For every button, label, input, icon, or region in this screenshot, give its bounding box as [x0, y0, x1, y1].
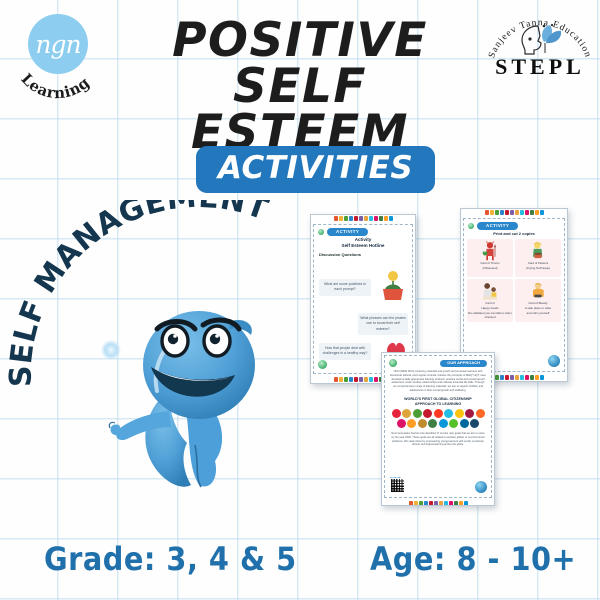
sdg-goal-dot [428, 419, 437, 428]
sdg-goal-dot [413, 409, 422, 418]
sdg-goal-icons [385, 407, 491, 431]
card-item: Card of Happy hands Re-validated you can… [467, 279, 513, 322]
worksheet-top-border [311, 215, 415, 222]
worksheet-3-globe-icon [475, 481, 487, 493]
card-caption-line3: Re-validated you can talk to when stress… [468, 312, 512, 320]
parent-child-icon [481, 281, 499, 301]
leaf-icon [389, 359, 397, 367]
age-label: Age: 8 - 10+ [370, 540, 576, 578]
page-title: POSITIVE SELF ESTEEM [100, 18, 500, 156]
stepl-logo: Sanjeev Tanna Education STEPL [488, 6, 592, 98]
worksheet-2-body: ACTIVITY Print and cut 2 copies Card of … [463, 218, 565, 372]
leaf-icon [318, 229, 324, 235]
blue-genie-mascot [95, 295, 295, 495]
worksheet-1-question-3: How that people deal with challenges in … [319, 343, 371, 360]
card-caption-line3: and calm yourself [527, 312, 550, 316]
sdg-goal-dot [434, 409, 443, 418]
leaf-icon [468, 223, 474, 229]
qr-code-icon[interactable] [390, 478, 405, 493]
sdg-goal-dot [439, 419, 448, 428]
activities-badge-label: ACTIVITIES [218, 153, 413, 184]
title-line-1: POSITIVE SELF [172, 13, 428, 114]
plant-pot-illustration [380, 269, 406, 303]
worksheet-2-header: ACTIVITY [464, 219, 564, 231]
worksheet-1-question-1: What are some positives in each prompt? [319, 279, 371, 296]
worksheet-2-card-grid: Card of Thorns (Obsessed) Card of Flower… [464, 236, 564, 325]
card-item: Card of Beauty A safe place to relax and… [515, 279, 561, 322]
sdg-goal-dot [455, 409, 464, 418]
sdg-goal-dot [470, 419, 479, 428]
stepl-wordmark: STEPL [488, 54, 592, 80]
activities-badge: ACTIVITIES [196, 146, 435, 193]
worksheet-2-badge: ACTIVITY [477, 222, 518, 230]
sdg-goal-dot [397, 419, 406, 428]
worksheet-3-bottom-border [382, 500, 494, 506]
worksheet-1-badge: ACTIVITY [327, 228, 368, 236]
gardener-character-icon [529, 241, 547, 261]
sdg-goal-dot [444, 409, 453, 418]
stepl-head-leaf-icon [514, 22, 566, 56]
worksheet-1-leaf-icon [318, 360, 327, 369]
worksheet-2-globe-icon [548, 355, 560, 367]
sdg-goal-dot [392, 409, 401, 418]
relaxing-person-icon [529, 281, 547, 301]
worksheet-2-top-border [461, 209, 567, 216]
sdg-goal-dot [402, 409, 411, 418]
sdg-goal-dot [423, 409, 432, 418]
ngn-learning-arc-text: Learning [17, 70, 93, 102]
sdg-goal-dot [407, 419, 416, 428]
worksheet-1-title: Activity Self Esteem Hotline [314, 237, 412, 249]
worksheet-3-header: OUR APPROACH [385, 356, 491, 367]
sdg-goal-dot [449, 419, 458, 428]
worksheet-1-section-label: Discussion Questions [314, 249, 412, 257]
ngn-learning-logo: ngn Learning [6, 4, 106, 104]
worksheet-1-header: ACTIVITY [314, 225, 412, 237]
card-item: Card of Flowers (Crying Technique) [515, 239, 561, 277]
sdg-goal-dot [460, 419, 469, 428]
worksheet-3-body: OUR APPROACH NGN (NEW SKILL) learning ma… [384, 355, 492, 498]
worksheet-preview-3[interactable]: OUR APPROACH NGN (NEW SKILL) learning ma… [381, 352, 495, 506]
worksheet-1-question-2: What phrases can the pirates use to boos… [358, 313, 408, 335]
card-item: Card of Thorns (Obsessed) [467, 239, 513, 277]
sdg-goal-dot [418, 419, 427, 428]
worksheet-3-badge: OUR APPROACH [440, 360, 487, 367]
poster-canvas: ngn Learning Sanjeev Tanna Education STE… [0, 0, 600, 600]
devil-character-icon [481, 241, 499, 261]
sdg-goal-dot [465, 409, 474, 418]
card-caption-line2: (Crying Technique) [526, 267, 550, 271]
card-caption-line2: (Obsessed) [483, 267, 498, 271]
worksheet-3-footer-paragraph: Next Generation Nurture has identified 1… [385, 432, 491, 447]
grade-label: Grade: 3, 4 & 5 [44, 540, 297, 578]
sdg-goal-dot [476, 409, 485, 418]
ngn-learning-arc-svg: Learning [6, 4, 106, 104]
worksheet-3-paragraph: NGN (NEW SKILL) learning materials and g… [385, 367, 491, 393]
